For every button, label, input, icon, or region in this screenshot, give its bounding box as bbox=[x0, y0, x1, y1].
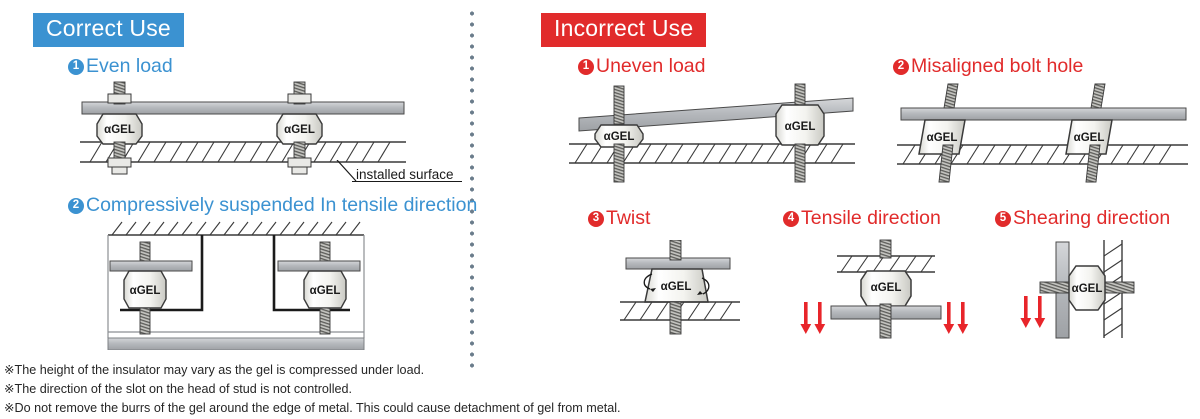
gel-label: αGEL bbox=[871, 282, 902, 294]
installed-surface-leader-line bbox=[336, 160, 358, 182]
bullet-number-1: 1 bbox=[578, 59, 594, 75]
heading-tensile-direction: 4 Tensile direction bbox=[783, 209, 941, 229]
heading-label: Twist bbox=[606, 209, 650, 229]
incorrect-use-badge: Incorrect Use bbox=[541, 13, 706, 47]
bullet-number-2: 2 bbox=[893, 59, 909, 75]
bullet-number-2: 2 bbox=[68, 198, 84, 214]
bullet-number-1: 1 bbox=[68, 59, 84, 75]
heading-twist: 3 Twist bbox=[588, 209, 650, 229]
footnote-item: ※The height of the insulator may vary as… bbox=[4, 361, 804, 380]
gel-label: αGEL bbox=[1074, 132, 1105, 144]
gel-label: αGEL bbox=[1072, 283, 1103, 295]
heading-shearing-direction: 5 Shearing direction bbox=[995, 209, 1170, 229]
footnotes: ※The height of the insulator may vary as… bbox=[4, 361, 804, 418]
force-arrows-right bbox=[943, 302, 968, 334]
heading-label: Uneven load bbox=[596, 57, 706, 77]
figure-tensile-direction: αGEL bbox=[795, 238, 975, 347]
correct-use-badge: Correct Use bbox=[33, 13, 184, 47]
figure-misaligned-bolt-hole: αGEL αGEL bbox=[895, 82, 1190, 197]
heading-label: Tensile direction bbox=[801, 209, 941, 229]
footnote-item: ※The direction of the slot on the head o… bbox=[4, 380, 804, 399]
footnote-item: ※Do not remove the burrs of the gel arou… bbox=[4, 399, 804, 418]
heading-label: Even load bbox=[86, 57, 173, 77]
bullet-number-4: 4 bbox=[783, 211, 799, 227]
force-arrows-shear bbox=[1020, 296, 1045, 328]
installed-surface-underline bbox=[352, 181, 462, 182]
figure-uneven-load: αGEL αGEL bbox=[565, 82, 857, 197]
gel-label: αGEL bbox=[284, 124, 315, 136]
heading-label: Shearing direction bbox=[1013, 209, 1170, 229]
heading-compressively-suspended: 2 Compressively suspended In tensile dir… bbox=[68, 196, 477, 216]
heading-label: Compressively suspended In tensile direc… bbox=[86, 196, 477, 216]
correct-use-panel: Correct Use 1 Even load bbox=[0, 0, 470, 419]
heading-uneven-load: 1 Uneven load bbox=[578, 57, 706, 77]
force-arrows-left bbox=[800, 302, 825, 334]
gel-label: αGEL bbox=[604, 131, 635, 143]
gel-label: αGEL bbox=[130, 285, 161, 297]
heading-misaligned-bolt-hole: 2 Misaligned bolt hole bbox=[893, 57, 1083, 77]
gel-label: αGEL bbox=[310, 285, 341, 297]
figure-compressively-suspended: αGEL αGEL bbox=[98, 220, 370, 355]
heading-even-load: 1 Even load bbox=[68, 57, 173, 77]
gel-label: αGEL bbox=[927, 132, 958, 144]
heading-label: Misaligned bolt hole bbox=[911, 57, 1083, 77]
gel-label: αGEL bbox=[104, 124, 135, 136]
figure-shearing-direction: αGEL bbox=[1018, 238, 1178, 347]
figure-twist: αGEL bbox=[612, 240, 748, 345]
gel-label: αGEL bbox=[785, 121, 816, 133]
bullet-number-5: 5 bbox=[995, 211, 1011, 227]
gel-label: αGEL bbox=[661, 281, 692, 293]
bullet-number-3: 3 bbox=[588, 211, 604, 227]
installed-surface-label: installed surface bbox=[356, 167, 454, 182]
